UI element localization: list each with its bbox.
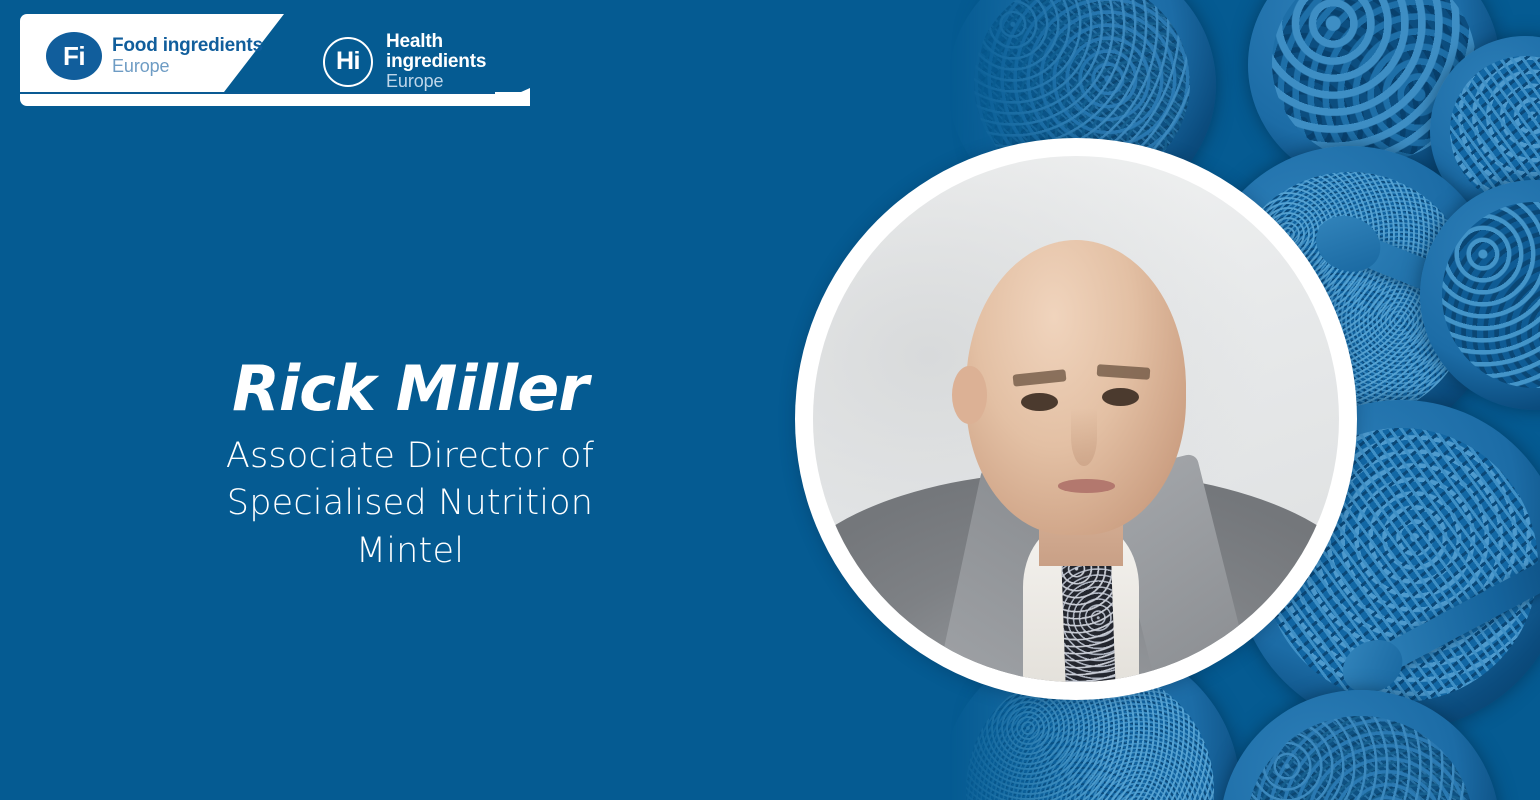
hi-mark-label: Hi [336,47,360,76]
fi-mark-label: Fi [63,41,85,72]
speaker-avatar [795,138,1357,700]
fi-logo-words: Food ingredients Europe [112,36,263,75]
bowl-rice-bottomright [1220,690,1500,800]
portrait-nose [1071,408,1097,466]
speaker-details: Rick Miller Associate Director of Specia… [110,356,710,575]
speaker-company: Mintel [110,528,710,575]
fi-logo-region: Europe [112,57,263,76]
speaker-role: Associate Director of Specialised Nutrit… [110,433,710,575]
portrait-ear [952,366,986,424]
speaker-name: Rick Miller [110,356,710,421]
hi-mark-icon: Hi [320,38,376,86]
hi-logo-words: Health ingredients Europe [386,32,530,91]
hi-europe-logo[interactable]: Hi Health ingredients Europe [320,32,530,91]
logo-banner: Fi Food ingredients Europe Hi Health ing… [20,14,530,106]
hi-logo-region: Europe [386,72,530,91]
bowl-pellets-right [1420,180,1540,410]
spoon-flakes [1367,546,1540,679]
fi-logo-name: Food ingredients [112,36,263,56]
fi-europe-logo[interactable]: Fi Food ingredients Europe [46,32,263,80]
portrait-eye-left [1021,393,1058,411]
bowl-flakes-corner [1430,36,1540,226]
speaker-role-line-1: Associate Director of [110,433,710,480]
hi-logo-name: Health ingredients [386,32,530,72]
colocated-with-label: co-located with [250,96,308,106]
fi-mark-icon: Fi [46,32,102,80]
speaker-portrait-photo [813,156,1339,682]
speaker-role-line-2: Specialised Nutrition [110,480,710,527]
spoon-seeds [1343,230,1540,351]
